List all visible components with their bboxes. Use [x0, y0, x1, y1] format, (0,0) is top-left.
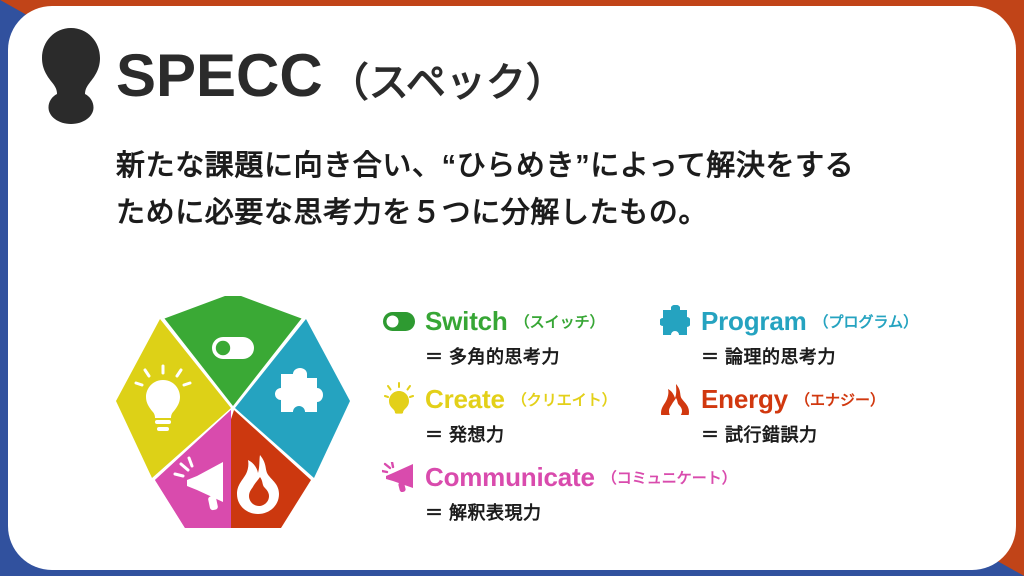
legend-name-energy: Energy [701, 386, 788, 412]
legend-item-create[interactable]: Create （クリエイト） ＝ 発想力 [382, 384, 617, 447]
flame-icon [658, 382, 692, 416]
toggle-switch-icon [382, 304, 416, 338]
legend-name-create: Create [425, 386, 505, 412]
toggle-switch-icon [212, 337, 254, 359]
legend-item-switch[interactable]: Switch （スイッチ） ＝ 多角的思考力 [382, 306, 605, 369]
legend-kana-program: （プログラム） [814, 315, 919, 330]
legend-meaning-communicate: ＝ 解釈表現力 [425, 499, 737, 525]
legend-name-communicate: Communicate [425, 464, 595, 490]
specc-pentagon-diagram [103, 296, 363, 536]
legend-item-program[interactable]: Program （プログラム） ＝ 論理的思考力 [658, 306, 918, 369]
lightbulb-mark-icon [40, 26, 102, 126]
legend-name-program: Program [701, 308, 807, 334]
legend-meaning-switch: ＝ 多角的思考力 [425, 343, 605, 369]
lightbulb-icon [382, 382, 416, 416]
legend-name-switch: Switch [425, 308, 508, 334]
megaphone-icon [382, 460, 416, 494]
puzzle-piece-icon [658, 304, 692, 338]
legend-kana-energy: （エナジー） [795, 393, 885, 408]
legend-kana-communicate: （コミュニケート） [602, 471, 737, 486]
title-row: SPECC （スペック） [116, 46, 566, 106]
legend-meaning-energy: ＝ 試行錯誤力 [701, 421, 885, 447]
description-line-1: 新たな課題に向き合い、“ひらめき”によって解決をする [116, 143, 966, 190]
legend-item-communicate[interactable]: Communicate （コミュニケート） ＝ 解釈表現力 [382, 462, 737, 525]
description-text: 新たな課題に向き合い、“ひらめき”によって解決をする ために必要な思考力を５つに… [116, 143, 966, 237]
legend-meaning-create: ＝ 発想力 [425, 421, 617, 447]
page-title: SPECC [116, 46, 323, 106]
page-title-kana: （スペック） [329, 63, 566, 103]
slide-root: SPECC （スペック） 新たな課題に向き合い、“ひらめき”によって解決をする … [0, 0, 1024, 576]
specc-legend: Switch （スイッチ） ＝ 多角的思考力 Program （プログラム） ＝… [382, 306, 982, 536]
legend-kana-create: （クリエイト） [512, 393, 617, 408]
legend-meaning-program: ＝ 論理的思考力 [701, 343, 918, 369]
slide-header: SPECC （スペック） [40, 26, 566, 126]
description-line-2: ために必要な思考力を５つに分解したもの。 [116, 190, 966, 237]
legend-item-energy[interactable]: Energy （エナジー） ＝ 試行錯誤力 [658, 384, 885, 447]
legend-kana-switch: （スイッチ） [515, 315, 605, 330]
